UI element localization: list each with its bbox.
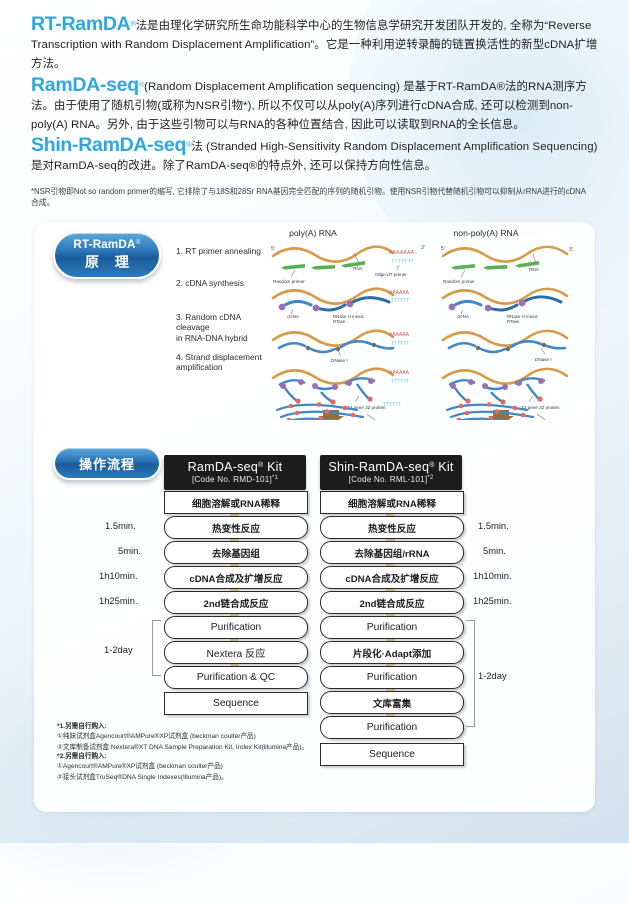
svg-text:Random primer: Random primer [273, 279, 305, 284]
svg-text:TTTTTT: TTTTTT [391, 298, 409, 304]
svg-text:AAAAAA: AAAAAA [389, 332, 410, 338]
flow-node-right-3[interactable]: 去除基因组/rRNA [320, 541, 464, 564]
kit-right-name: Shin-RamDA-seq® Kit [320, 460, 462, 474]
kit-header-shin-ramda-seq: Shin-RamDA-seq® Kit [Code No. RML-101]*2 [320, 455, 462, 490]
schematic-non-polya: 5' 3' Random primer RNA [441, 238, 591, 420]
svg-text:TTTTTT: TTTTTT [391, 341, 409, 347]
svg-text:TTTTTT: TTTTTT [383, 402, 401, 408]
paragraph-ramda-seq: RamDA-seq®(Random Displacement Amplifica… [31, 75, 601, 136]
time-label-right-4: 1h25min. [473, 595, 512, 606]
principle-step-1: 1. RT primer annealing [176, 246, 271, 256]
badge-workflow-label: 操作流程 [79, 454, 135, 473]
svg-text:AAAAAA: AAAAAA [389, 290, 410, 296]
intro-text-block: RT-RamDA®法是由理化学研究所生命功能科学中心的生物信息学研究开发团队开发… [31, 14, 601, 209]
footnote-2: *2.另需自行购入: ①Agencourt®AMPure®XP试剂盒 (beck… [57, 752, 357, 783]
flow-node-left-2[interactable]: 热变性反应 [164, 516, 308, 539]
svg-text:Oligo-dT primer: Oligo-dT primer [375, 272, 407, 277]
badge-principle-line2: 原 理 [79, 252, 135, 272]
principle-step-3: 3. Random cDNA cleavage in RNA-DNA hybri… [176, 312, 271, 343]
footnote-1-item-a: ①纯妹试剂盒Agencourt®AMPure®XP试剂盒 (beckman co… [57, 732, 357, 742]
flow-node-right-5[interactable]: 2nd链合成反应 [320, 591, 464, 614]
footnote-2-title: *2.另需自行购入: [57, 752, 357, 762]
time-label-right-1: 1.5min. [478, 520, 509, 531]
badge-principle: RT-RamDA® 原 理 [53, 231, 161, 279]
bracket-right [466, 620, 475, 727]
brand-ramda-seq: RamDA-seq® [31, 74, 144, 96]
svg-text:RNA: RNA [529, 267, 540, 272]
flow-node-right-8[interactable]: Purification [320, 666, 464, 689]
time-label-left-4: 1h25min. [99, 595, 138, 606]
footnote-1: *1.另需自行购入: ①纯妹试剂盒Agencourt®AMPure®XP试剂盒 … [57, 722, 357, 753]
time-label-left-3: 1h10min. [99, 570, 138, 581]
flow-node-right-6[interactable]: Purification [320, 616, 464, 639]
flow-node-right-2[interactable]: 热变性反应 [320, 516, 464, 539]
svg-text:DNase I: DNase I [331, 358, 348, 363]
flow-node-right-11[interactable]: Sequence [320, 743, 464, 766]
svg-text:TTTTTT: TTTTTT [391, 379, 409, 385]
footnote-2-item-a: ①Agencourt®AMPure®XP试剂盒 (beckman coulter… [57, 762, 357, 772]
footnote-1-title: *1.另需自行购入: [57, 722, 357, 732]
flow-node-left-9[interactable]: Sequence [164, 692, 308, 715]
bracket-left [152, 620, 161, 676]
svg-text:AAAAAA: AAAAAA [389, 370, 410, 376]
flow-node-right-4[interactable]: cDNA合成及扩增反应 [320, 566, 464, 589]
flow-node-left-7[interactable]: Nextera 反应 [164, 641, 308, 664]
svg-text:RTase: RTase [507, 319, 520, 324]
page-root: RT-RamDA®法是由理化学研究所生命功能科学中心的生物信息学研究开发团队开发… [0, 0, 629, 843]
badge-workflow: 操作流程 [53, 446, 161, 480]
column-header-non-polya: non-poly(A) RNA [411, 228, 561, 238]
kit-left-name: RamDA-seq® Kit [164, 460, 306, 474]
flow-node-right-7[interactable]: 片段化·Adapt添加 [320, 641, 464, 664]
flow-node-left-1[interactable]: 细胞溶解或RNA稀释 [164, 491, 308, 514]
flow-node-left-6[interactable]: Purification [164, 616, 308, 639]
svg-text:TTTTTTT: TTTTTTT [391, 259, 414, 265]
flow-node-left-8[interactable]: Purification & QC [164, 666, 308, 689]
kit-left-code: [Code No. RMD-101]*1 [164, 475, 306, 484]
paragraph-shin-ramda-seq: Shin-RamDA-seq®法 (Stranded High-Sensitiv… [31, 135, 601, 176]
time-label-left-2: 5min. [118, 545, 141, 556]
svg-text:cDNA: cDNA [287, 314, 300, 319]
brand-shin-ramda-seq: Shin-RamDA-seq® [31, 134, 191, 156]
principle-step-2: 2. cDNA synthesis [176, 278, 271, 288]
flow-node-left-5[interactable]: 2nd链合成反应 [164, 591, 308, 614]
footnote-2-item-b: ②接头试剂盒TruSeq®DNA Single Indexes(Illumina… [57, 773, 357, 783]
svg-text:DNase I: DNase I [535, 357, 552, 362]
svg-text:RNA: RNA [353, 266, 364, 271]
badge-principle-line1: RT-RamDA® [73, 238, 140, 251]
column-header-polya: poly(A) RNA [238, 228, 388, 238]
kit-right-code: [Code No. RML-101]*2 [320, 475, 462, 484]
brand-rt-ramda: RT-RamDA® [31, 13, 136, 35]
flow-node-right-1[interactable]: 细胞溶解或RNA稀释 [320, 491, 464, 514]
time-label-left-5: 1-2day [104, 644, 133, 655]
svg-text:cDNA: cDNA [457, 314, 470, 319]
principle-step-4: 4. Strand displacement amplification [176, 352, 271, 373]
nsr-footnote: *NSR引物即Not so random primer的缩写, 它排除了与18S… [31, 186, 587, 209]
kit-header-ramda-seq: RamDA-seq® Kit [Code No. RMD-101]*1 [164, 455, 306, 490]
time-label-left-1: 1.5min. [105, 520, 136, 531]
registered-mark: ® [136, 239, 141, 246]
svg-text:3': 3' [569, 247, 573, 253]
time-label-right-2: 5min. [483, 545, 506, 556]
flow-node-right-10[interactable]: Purification [320, 716, 464, 739]
flow-node-right-9[interactable]: 文库富集 [320, 691, 464, 714]
time-label-right-3: 1h10min. [473, 570, 512, 581]
principle-diagram: poly(A) RNA non-poly(A) RNA 1. RT primer… [176, 228, 586, 424]
svg-text:Random primer: Random primer [443, 279, 475, 284]
svg-text:AAAAAAA..: AAAAAAA.. [389, 250, 418, 256]
flow-node-left-3[interactable]: 去除基因组 [164, 541, 308, 564]
svg-text:5': 5' [271, 246, 275, 252]
time-label-right-5: 1-2day [478, 670, 507, 681]
svg-text:RTase: RTase [333, 319, 346, 324]
paragraph-rt-ramda: RT-RamDA®法是由理化学研究所生命功能科学中心的生物信息学研究开发团队开发… [31, 14, 601, 75]
schematic-polya: 5' Random primer RNA AAAAAAA.. 3' TTTTTT… [271, 238, 431, 420]
flow-node-left-4[interactable]: cDNA合成及扩增反应 [164, 566, 308, 589]
svg-text:5': 5' [441, 246, 445, 252]
svg-text:3': 3' [421, 245, 425, 251]
